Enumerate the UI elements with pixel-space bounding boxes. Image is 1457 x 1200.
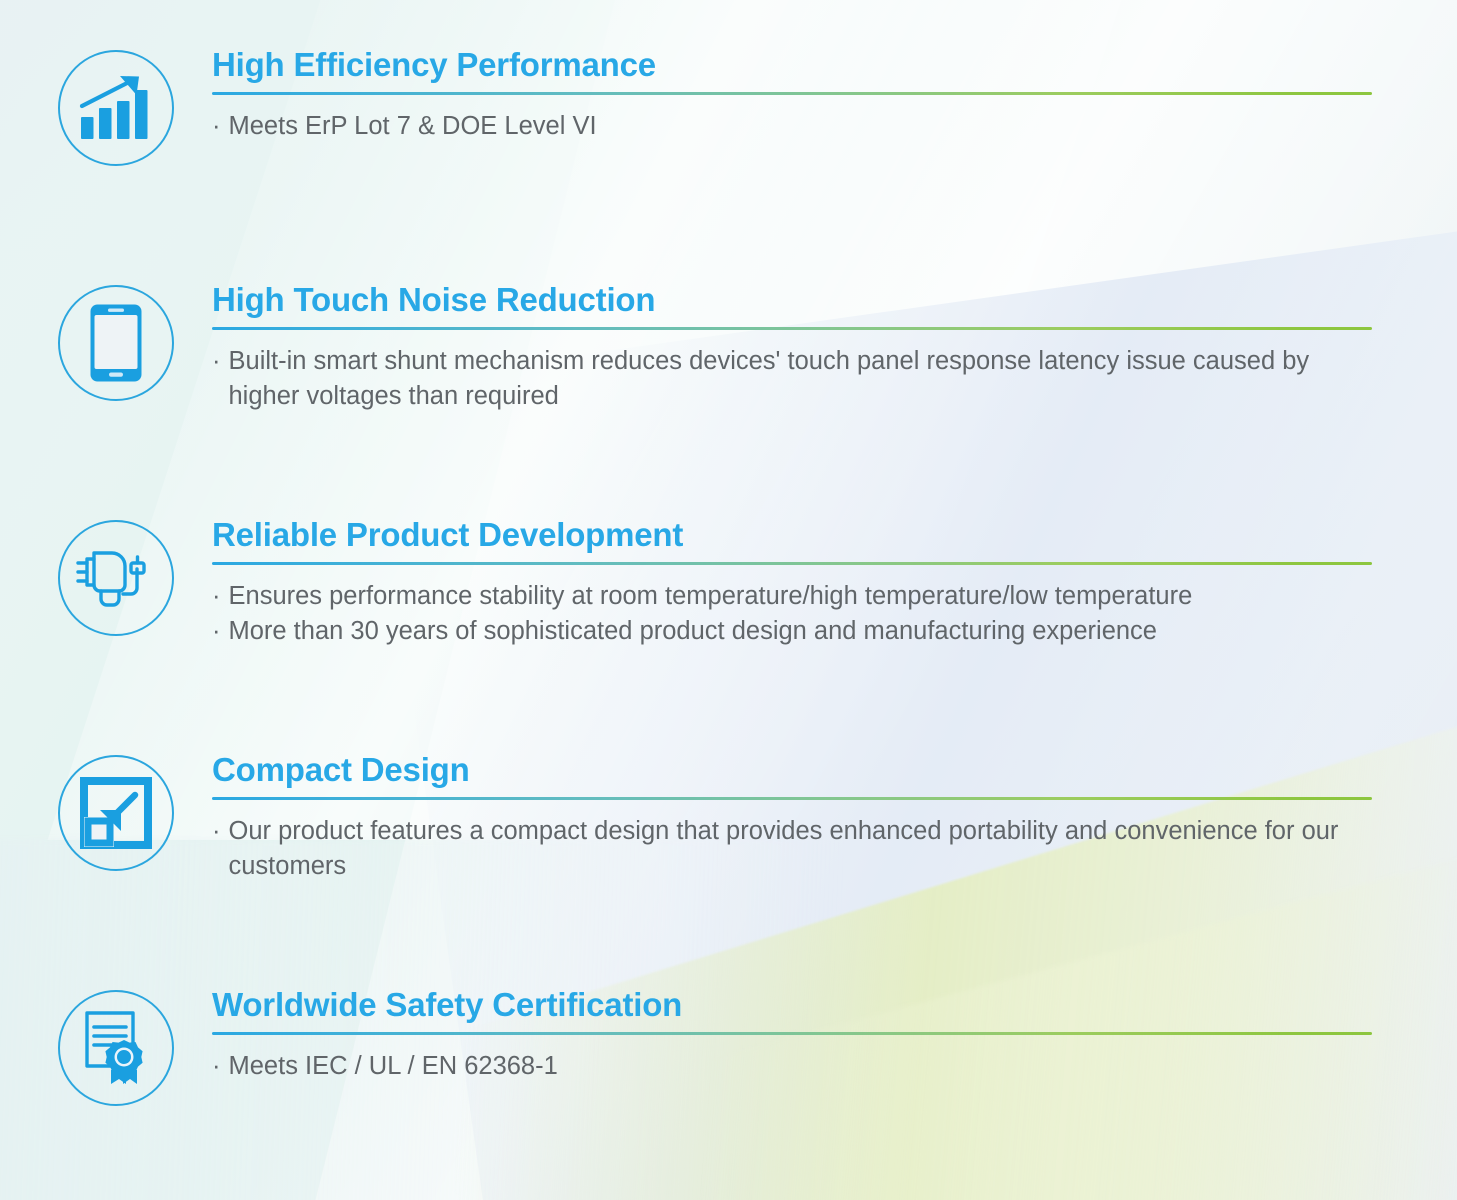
feature-title: High Efficiency Performance bbox=[212, 46, 1372, 85]
bar-chart-growth-icon bbox=[58, 50, 174, 166]
feature-item-high-touch-noise-reduction: High Touch Noise Reduction · Built-in sm… bbox=[0, 281, 1457, 414]
bullet-marker: · bbox=[212, 344, 221, 379]
bullet-text: Meets ErP Lot 7 & DOE Level VI bbox=[229, 109, 597, 144]
certificate-seal-icon bbox=[58, 990, 174, 1106]
feature-title: Reliable Product Development bbox=[212, 516, 1372, 555]
feature-bullet: · Meets ErP Lot 7 & DOE Level VI bbox=[212, 109, 1372, 144]
feature-title: Compact Design bbox=[212, 751, 1372, 790]
bullet-text: Our product features a compact design th… bbox=[229, 814, 1373, 884]
feature-body: Reliable Product Development · Ensures p… bbox=[212, 516, 1372, 649]
feature-title: Worldwide Safety Certification bbox=[212, 986, 1372, 1025]
feature-bullet: · Built-in smart shunt mechanism reduces… bbox=[212, 344, 1372, 414]
feature-divider bbox=[212, 92, 1372, 95]
bullet-text: Meets IEC / UL / EN 62368-1 bbox=[229, 1049, 558, 1084]
feature-bullet: · Ensures performance stability at room … bbox=[212, 579, 1372, 614]
feature-title: High Touch Noise Reduction bbox=[212, 281, 1372, 320]
bullet-text: Ensures performance stability at room te… bbox=[229, 579, 1193, 614]
feature-body: Worldwide Safety Certification · Meets I… bbox=[212, 986, 1372, 1084]
feature-divider bbox=[212, 327, 1372, 330]
feature-bullet-list: · Ensures performance stability at room … bbox=[212, 579, 1372, 649]
feature-divider bbox=[212, 797, 1372, 800]
feature-item-reliable-product-development: Reliable Product Development · Ensures p… bbox=[0, 516, 1457, 649]
feature-item-worldwide-safety-certification: Worldwide Safety Certification · Meets I… bbox=[0, 986, 1457, 1106]
feature-bullet: · More than 30 years of sophisticated pr… bbox=[212, 614, 1372, 649]
bullet-marker: · bbox=[212, 814, 221, 849]
feature-body: High Touch Noise Reduction · Built-in sm… bbox=[212, 281, 1372, 414]
feature-highlights-page: High Efficiency Performance · Meets ErP … bbox=[0, 0, 1457, 1200]
feature-bullet-list: · Our product features a compact design … bbox=[212, 814, 1372, 884]
feature-bullet: · Our product features a compact design … bbox=[212, 814, 1372, 884]
feature-bullet-list: · Meets IEC / UL / EN 62368-1 bbox=[212, 1049, 1372, 1084]
compress-resize-icon bbox=[58, 755, 174, 871]
bullet-text: Built-in smart shunt mechanism reduces d… bbox=[229, 344, 1373, 414]
feature-divider bbox=[212, 562, 1372, 565]
bullet-marker: · bbox=[212, 579, 221, 614]
feature-bullet-list: · Built-in smart shunt mechanism reduces… bbox=[212, 344, 1372, 414]
power-adapter-icon bbox=[58, 520, 174, 636]
feature-bullet-list: · Meets ErP Lot 7 & DOE Level VI bbox=[212, 109, 1372, 144]
feature-item-compact-design: Compact Design · Our product features a … bbox=[0, 751, 1457, 884]
bullet-marker: · bbox=[212, 109, 221, 144]
feature-body: Compact Design · Our product features a … bbox=[212, 751, 1372, 884]
feature-divider bbox=[212, 1032, 1372, 1035]
bullet-text: More than 30 years of sophisticated prod… bbox=[229, 614, 1157, 649]
feature-bullet: · Meets IEC / UL / EN 62368-1 bbox=[212, 1049, 1372, 1084]
smartphone-icon bbox=[58, 285, 174, 401]
bullet-marker: · bbox=[212, 614, 221, 649]
bullet-marker: · bbox=[212, 1049, 221, 1084]
feature-body: High Efficiency Performance · Meets ErP … bbox=[212, 46, 1372, 144]
feature-item-high-efficiency-performance: High Efficiency Performance · Meets ErP … bbox=[0, 46, 1457, 166]
